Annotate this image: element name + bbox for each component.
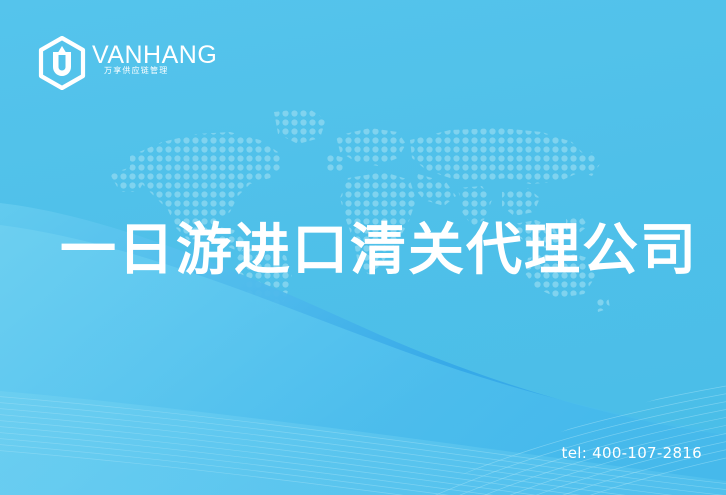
logo-subtitle: 万享供应链管理	[104, 65, 168, 77]
logo-wordmark-group: VANHANG 万享供应链管理	[92, 40, 210, 86]
line-texture-graphic	[0, 295, 726, 495]
company-logo[interactable]: VANHANG 万享供应链管理	[36, 35, 210, 91]
vanhang-hexagon-logo-icon	[36, 36, 88, 90]
contact-phone[interactable]: tel: 400-107-2816	[562, 444, 702, 462]
page-title: 一日游进口清关代理公司	[60, 220, 698, 282]
promotional-banner: VANHANG 万享供应链管理 一日游进口清关代理公司 tel: 400-107…	[0, 0, 726, 495]
